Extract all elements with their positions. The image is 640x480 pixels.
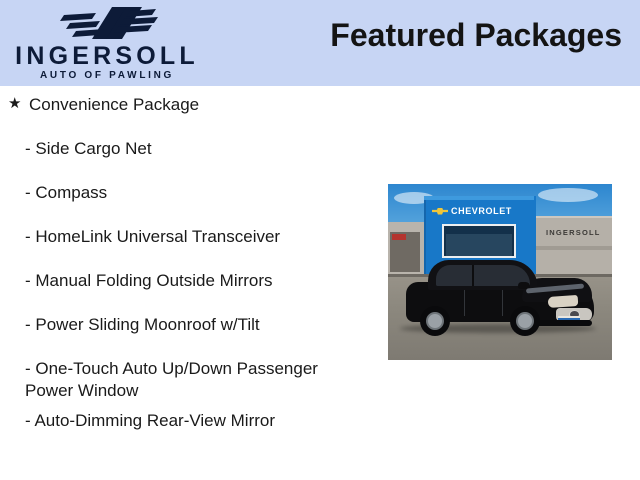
car-headlight [548, 295, 579, 308]
package-item-label: - Power Sliding Moonroof w/Tilt [25, 314, 380, 336]
service-bay-opening [446, 234, 512, 256]
car-window-pillar [472, 265, 474, 286]
building-ingersoll-sign: INGERSOLL [546, 228, 610, 237]
car-door-seam [502, 290, 503, 316]
chevrolet-bowtie-icon [432, 208, 448, 215]
left-building-sign [392, 234, 406, 240]
ingersoll-wing-emblem-icon [56, 6, 160, 40]
chevrolet-sign: CHEVROLET [432, 204, 528, 218]
car-rim [426, 312, 444, 330]
cloud [538, 188, 598, 202]
package-feature-item: - Side Cargo Net [0, 130, 380, 174]
car-windows [436, 265, 530, 286]
right-building-band [534, 246, 612, 250]
package-feature-item: - Auto-Dimming Rear-View Mirror [0, 402, 380, 446]
package-heading: ★Convenience Package [0, 86, 380, 130]
package-feature-item: - Power Sliding Moonroof w/Tilt [0, 306, 380, 350]
package-item-label: - Manual Folding Outside Mirrors [25, 270, 380, 292]
brand-name: INGERSOLL [0, 42, 214, 70]
page-title: Featured Packages [330, 17, 622, 54]
main-content: ★Convenience Package- Side Cargo Net- Co… [0, 86, 640, 480]
package-item-label: - Side Cargo Net [25, 138, 380, 160]
package-feature-list: ★Convenience Package- Side Cargo Net- Co… [0, 86, 380, 446]
package-item-label: - Auto-Dimming Rear-View Mirror [25, 410, 380, 432]
car-rim [516, 312, 534, 330]
car-door-seam [464, 290, 465, 316]
brand-logo[interactable]: INGERSOLL AUTO OF PAWLING [0, 2, 214, 84]
star-bullet-icon: ★ [8, 93, 21, 115]
car [406, 256, 594, 332]
package-item-label: - HomeLink Universal Transceiver [25, 226, 380, 248]
vehicle-photo[interactable]: INGERSOLL CHEVROLET [388, 184, 612, 360]
package-feature-item: - Manual Folding Outside Mirrors [0, 262, 380, 306]
package-feature-item: - Compass [0, 174, 380, 218]
chevrolet-building-top [424, 196, 534, 200]
page-header: INGERSOLL AUTO OF PAWLING Featured Packa… [0, 0, 640, 86]
package-feature-item: - One-Touch Auto Up/Down Passenger Power… [0, 350, 380, 402]
package-feature-item: - HomeLink Universal Transceiver [0, 218, 380, 262]
package-item-label: Convenience Package [29, 94, 380, 116]
brand-subtitle: AUTO OF PAWLING [0, 70, 214, 82]
chevrolet-sign-text: CHEVROLET [451, 206, 512, 216]
package-item-label: - Compass [25, 182, 380, 204]
package-item-label: - One-Touch Auto Up/Down Passenger Power… [25, 358, 380, 402]
